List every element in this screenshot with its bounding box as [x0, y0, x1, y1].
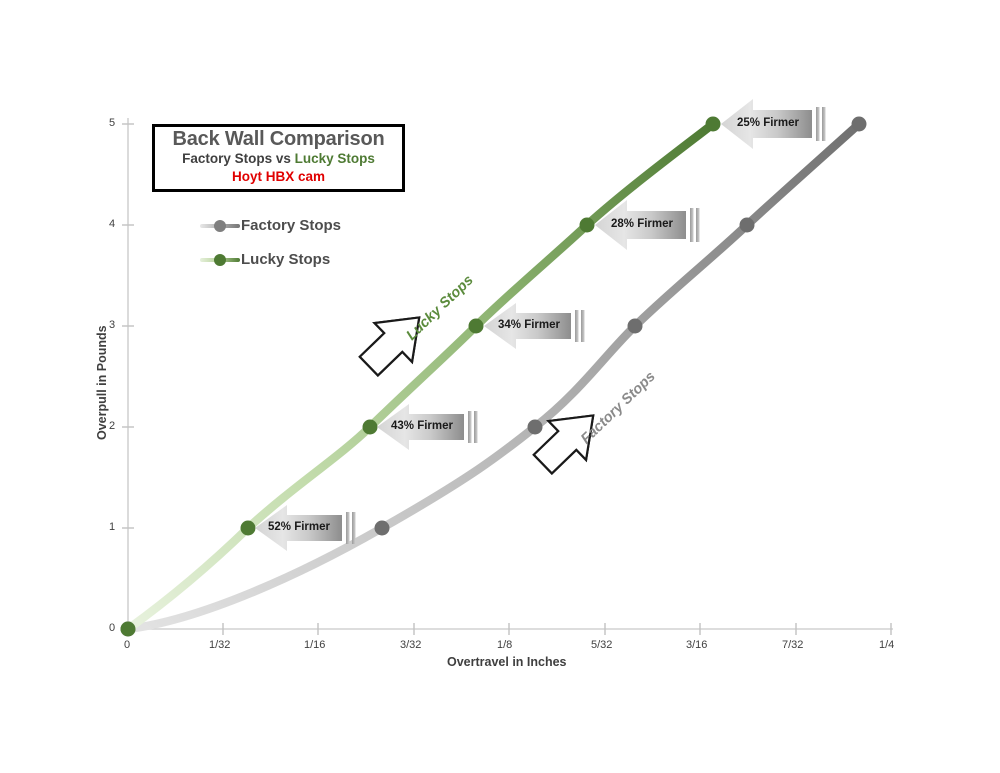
data-point: [375, 521, 390, 536]
legend-marker-icon: [214, 220, 226, 232]
data-point: [580, 218, 595, 233]
data-point: [852, 117, 867, 132]
y-axis: [122, 118, 134, 629]
chart-subtitle: Factory Stops vs Lucky Stops: [182, 151, 375, 168]
legend-item-lucky-stops[interactable]: Lucky Stops: [200, 247, 341, 272]
legend-swatch-factory: [200, 219, 240, 233]
title-box: Back Wall Comparison Factory Stops vs Lu…: [152, 124, 405, 192]
legend-marker-icon: [214, 254, 226, 266]
series-factory-stops: [121, 117, 867, 637]
chart-title: Back Wall Comparison: [173, 129, 385, 150]
y-tick-3: 3: [109, 319, 115, 331]
x-axis: [128, 623, 893, 635]
y-tick-0: 0: [109, 622, 115, 634]
subtitle-prefix: Factory Stops vs: [182, 151, 295, 166]
y-tick-2: 2: [109, 420, 115, 432]
data-point: [740, 218, 755, 233]
x-axis-title: Overtravel in Inches: [447, 655, 567, 669]
data-point: [241, 521, 256, 536]
subtitle-highlight: Lucky Stops: [295, 151, 375, 166]
legend-item-factory-stops[interactable]: Factory Stops: [200, 213, 341, 238]
legend-label-lucky-stops: Lucky Stops: [241, 251, 330, 268]
y-axis-title: Overpull in Pounds: [95, 325, 109, 440]
chart-canvas: Back Wall Comparison Factory Stops vs Lu…: [0, 0, 1000, 773]
x-tick-2: 1/16: [304, 639, 325, 651]
data-point: [469, 319, 484, 334]
x-tick-3: 3/32: [400, 639, 421, 651]
y-tick-5: 5: [109, 117, 115, 129]
x-tick-8: 1/4: [879, 639, 894, 651]
callout-label-34: 34% Firmer: [498, 319, 560, 331]
callout-label-43: 43% Firmer: [391, 420, 453, 432]
legend: Factory Stops Lucky Stops: [200, 213, 341, 272]
x-tick-1: 1/32: [209, 639, 230, 651]
data-point: [363, 420, 378, 435]
callout-label-52: 52% Firmer: [268, 521, 330, 533]
x-tick-4: 1/8: [497, 639, 512, 651]
x-tick-0: 0: [124, 639, 130, 651]
callout-label-28: 28% Firmer: [611, 218, 673, 230]
x-tick-7: 7/32: [782, 639, 803, 651]
chart-cam-label: Hoyt HBX cam: [232, 169, 325, 185]
factory-stops-double-arrow: [524, 396, 612, 483]
x-tick-5: 5/32: [591, 639, 612, 651]
y-tick-4: 4: [109, 218, 115, 230]
legend-swatch-lucky: [200, 253, 240, 267]
legend-label-factory-stops: Factory Stops: [241, 217, 341, 234]
callout-label-25: 25% Firmer: [737, 117, 799, 129]
data-point: [121, 622, 136, 637]
y-tick-1: 1: [109, 521, 115, 533]
x-tick-6: 3/16: [686, 639, 707, 651]
data-point: [528, 420, 543, 435]
series-lucky-stops: [121, 117, 721, 637]
data-point: [706, 117, 721, 132]
data-point: [628, 319, 643, 334]
